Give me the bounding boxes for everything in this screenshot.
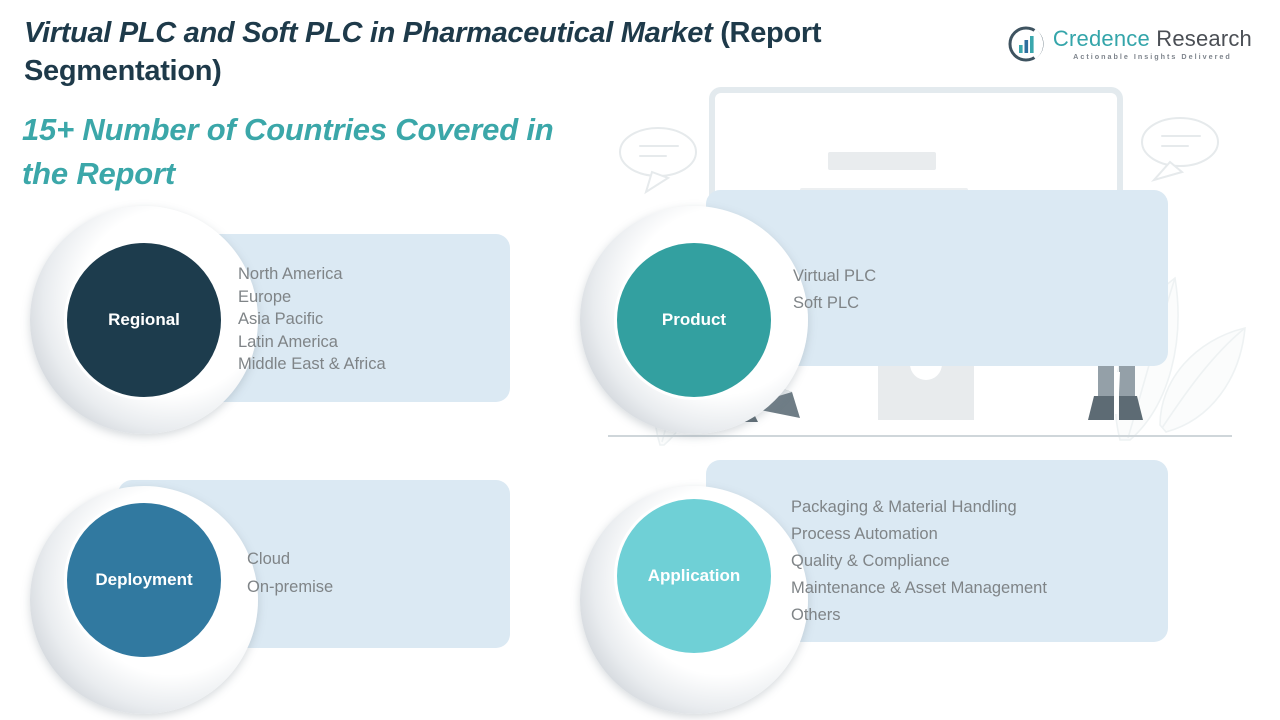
slide-canvas: Virtual PLC and Soft PLC in Pharmaceutic… xyxy=(0,0,1280,720)
segment-circle-regional[interactable]: Regional xyxy=(64,240,224,400)
logo-word-credence: Credence xyxy=(1053,26,1150,51)
list-item: Cloud xyxy=(247,545,333,573)
logo-word-research: Research xyxy=(1156,26,1252,51)
segment-list-product: Virtual PLC Soft PLC xyxy=(793,263,876,317)
dot-decoration xyxy=(890,374,895,379)
list-item: Middle East & Africa xyxy=(238,353,386,376)
speech-bubble-right-lines xyxy=(1162,136,1200,146)
list-item: Soft PLC xyxy=(793,290,876,317)
list-item: Process Automation xyxy=(791,521,1047,548)
dot-decoration xyxy=(929,367,935,373)
list-item: North America xyxy=(238,263,386,286)
list-item: Others xyxy=(791,602,1047,629)
segment-circle-product[interactable]: Product xyxy=(614,240,774,400)
segment-list-application: Packaging & Material Handling Process Au… xyxy=(791,494,1047,629)
list-item: On-premise xyxy=(247,573,333,601)
speech-bubble-left xyxy=(620,128,696,192)
list-item: Virtual PLC xyxy=(793,263,876,290)
segment-label-product: Product xyxy=(662,310,726,330)
segment-label-regional: Regional xyxy=(108,310,180,330)
logo-text: Credence Research Actionable Insights De… xyxy=(1053,28,1252,60)
list-item: Europe xyxy=(238,286,386,309)
segment-circle-deployment[interactable]: Deployment xyxy=(64,500,224,660)
speech-bubble-right xyxy=(1142,118,1218,180)
page-title: Virtual PLC and Soft PLC in Pharmaceutic… xyxy=(24,14,944,90)
page-title-main: Virtual PLC and Soft PLC in Pharmaceutic… xyxy=(24,17,720,49)
list-item: Latin America xyxy=(238,331,386,354)
logo-wordmark: Credence Research xyxy=(1053,28,1252,50)
subtitle: 15+ Number of Countries Covered in the R… xyxy=(22,108,582,196)
speech-bubble-left-lines xyxy=(640,146,678,156)
list-item: Packaging & Material Handling xyxy=(791,494,1047,521)
list-item: Maintenance & Asset Management xyxy=(791,575,1047,602)
list-item: Asia Pacific xyxy=(238,308,386,331)
segment-label-application: Application xyxy=(648,566,741,586)
segment-list-deployment: Cloud On-premise xyxy=(247,545,333,601)
segment-circle-application[interactable]: Application xyxy=(614,496,774,656)
segment-list-regional: North America Europe Asia Pacific Latin … xyxy=(238,263,386,376)
segment-label-deployment: Deployment xyxy=(95,570,192,590)
brand-logo: Credence Research Actionable Insights De… xyxy=(1008,26,1252,62)
list-item: Quality & Compliance xyxy=(791,548,1047,575)
podium-block xyxy=(878,364,974,420)
bar-chart-circle-icon xyxy=(1008,26,1044,62)
logo-tagline: Actionable Insights Delivered xyxy=(1053,53,1252,60)
